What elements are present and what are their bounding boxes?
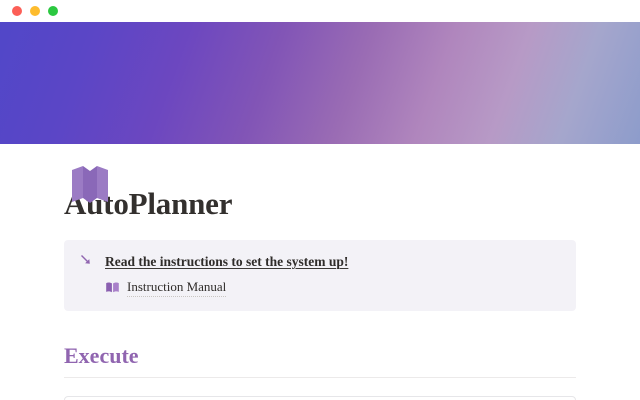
page-title: AutoPlanner [64,186,576,222]
page-link-instruction-manual-label: Instruction Manual [127,279,226,297]
minimize-window-button[interactable] [30,6,40,16]
section-divider [64,377,576,378]
arrow-down-right-icon [79,253,95,271]
page-content: AutoPlanner Read the instructions to set… [0,186,640,400]
open-book-icon [105,280,120,295]
app-window: AutoPlanner Read the instructions to set… [0,0,640,400]
page-link-instruction-manual[interactable]: Instruction Manual [105,279,561,297]
callout-setup[interactable]: Read the instructions to set the system … [64,240,576,311]
window-titlebar [0,0,640,22]
maximize-window-button[interactable] [48,6,58,16]
callout-setup-row: Read the instructions to set the system … [79,253,561,271]
section-heading-execute: Execute [64,343,576,369]
close-window-button[interactable] [12,6,22,16]
callout-setup-text: Read the instructions to set the system … [105,253,348,271]
page-cover-banner[interactable] [0,22,640,144]
folded-map-icon[interactable] [64,158,116,210]
callout-execute[interactable]: Get your autogenerated schedule for the … [64,396,576,400]
